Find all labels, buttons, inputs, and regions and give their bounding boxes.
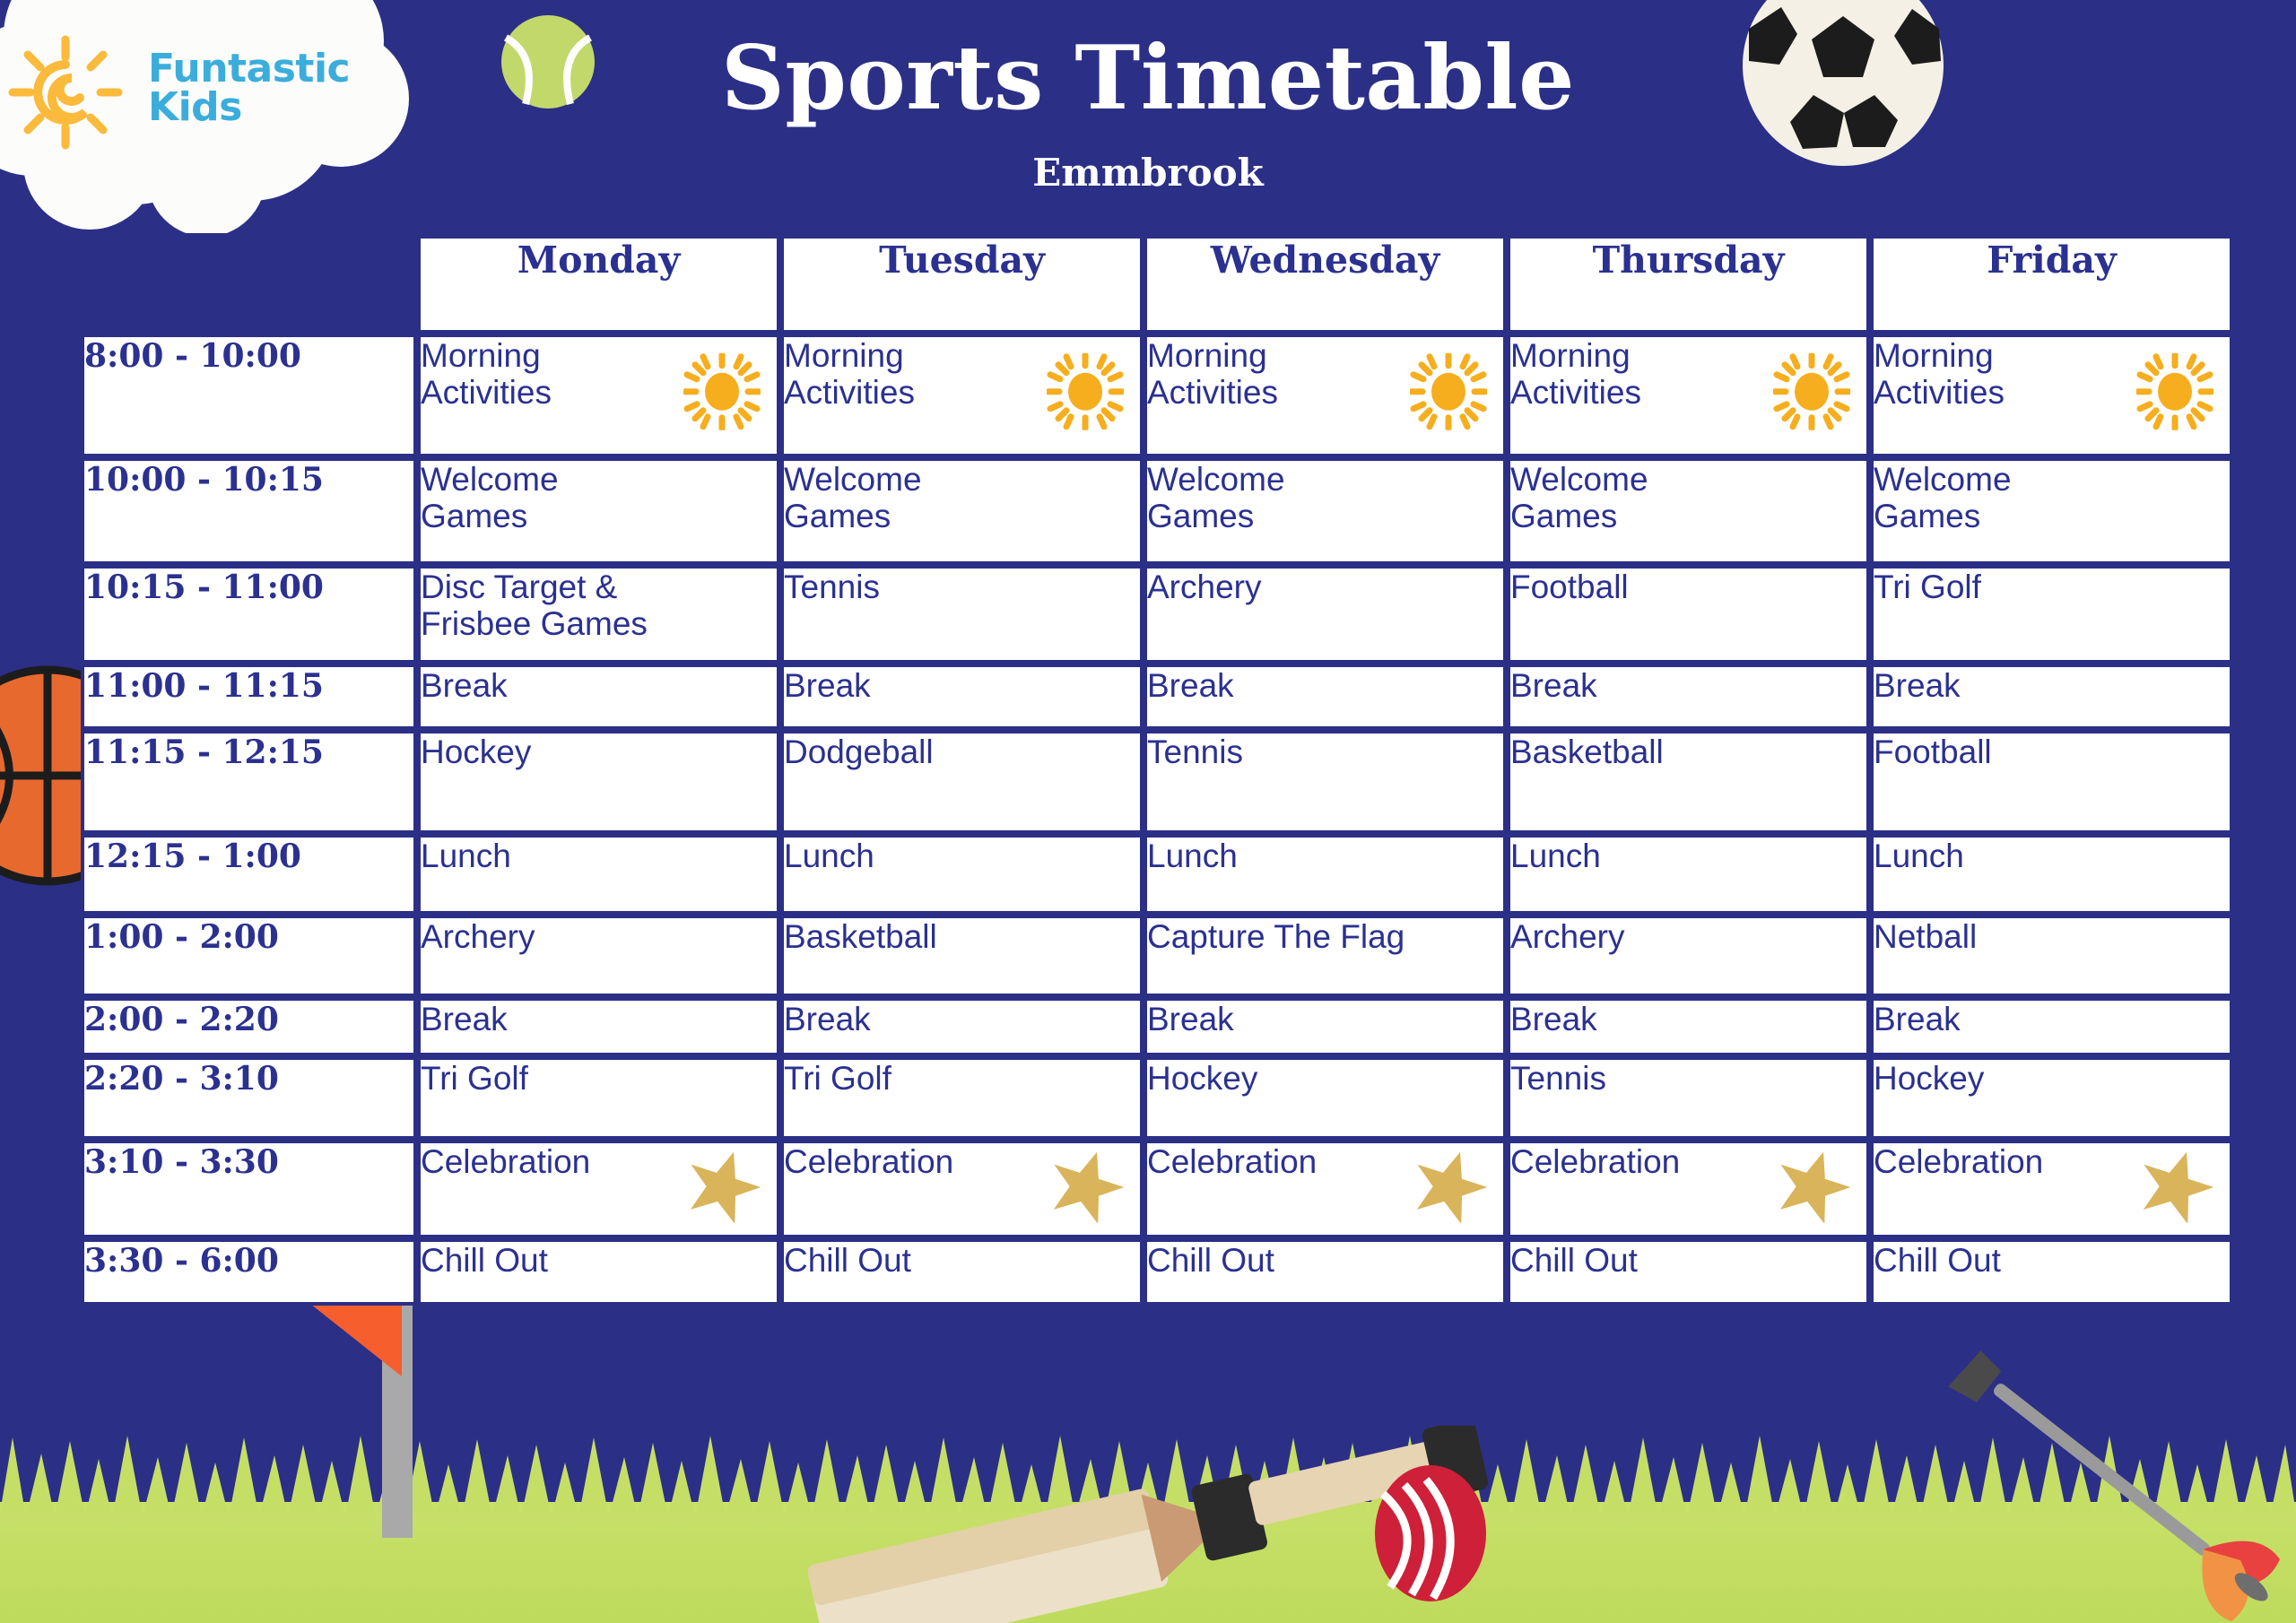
- activity-label: Chill Out: [421, 1242, 649, 1279]
- activity-cell: Chill Out: [780, 1238, 1144, 1306]
- activity-label: Morning Activities: [1147, 337, 1376, 412]
- star-icon: [1412, 1148, 1487, 1223]
- activity-cell: Morning Activities: [1144, 334, 1507, 457]
- activity-cell: Hockey: [1144, 1056, 1507, 1140]
- activity-cell: Break: [1507, 664, 1870, 730]
- sun-icon: [683, 353, 761, 430]
- sun-icon: [1773, 353, 1850, 430]
- activity-label: Archery: [421, 918, 649, 955]
- activity-label: Morning Activities: [784, 337, 1013, 412]
- activity-cell: Archery: [417, 915, 780, 997]
- activity-label: Tennis: [1510, 1060, 1739, 1097]
- activity-label: Tri Golf: [421, 1060, 649, 1097]
- activity-cell: Chill Out: [1870, 1238, 2233, 1306]
- sun-icon: [1047, 353, 1124, 430]
- activity-cell: Capture The Flag: [1144, 915, 1507, 997]
- activity-label: Hockey: [1874, 1060, 2102, 1097]
- activity-label: Tennis: [784, 568, 1013, 605]
- activity-label: Dodgeball: [784, 733, 1013, 770]
- cricket-bat-icon: [789, 1426, 1489, 1623]
- time-slot-label: 2:20 - 3:10: [81, 1056, 417, 1140]
- page-header: Sports Timetable Emmbrook: [0, 0, 2296, 224]
- activity-label: Morning Activities: [421, 337, 649, 412]
- activity-cell: Hockey: [1870, 1056, 2233, 1140]
- star-icon: [1775, 1148, 1850, 1223]
- activity-cell: Break: [1507, 997, 1870, 1056]
- activity-label: Lunch: [1874, 838, 2102, 874]
- star-icon: [2138, 1148, 2213, 1223]
- activity-cell: Break: [417, 664, 780, 730]
- activity-cell: Football: [1507, 565, 1870, 664]
- activity-cell: Lunch: [1507, 834, 1870, 915]
- timetable-row: 12:15 - 1:00LunchLunchLunchLunchLunch: [81, 834, 2233, 915]
- activity-cell: Welcome Games: [1144, 457, 1507, 565]
- activity-label: Break: [784, 1001, 1013, 1037]
- page-subtitle: Emmbrook: [0, 151, 2296, 195]
- activity-label: Break: [1510, 1001, 1739, 1037]
- activity-cell: Dodgeball: [780, 730, 1144, 834]
- activity-label: Tri Golf: [1874, 568, 2102, 605]
- activity-label: Break: [1147, 1001, 1376, 1037]
- grass-icon: [0, 1502, 2296, 1623]
- activity-cell: Lunch: [1144, 834, 1507, 915]
- activity-cell: Basketball: [780, 915, 1144, 997]
- page-title: Sports Timetable: [0, 27, 2296, 130]
- activity-label: Celebration: [1510, 1143, 1739, 1180]
- time-slot-label: 12:15 - 1:00: [81, 834, 417, 915]
- time-slot-label: 8:00 - 10:00: [81, 334, 417, 457]
- activity-label: Archery: [1147, 568, 1376, 605]
- timetable-body: 8:00 - 10:00Morning Activities Morning A…: [81, 334, 2233, 1306]
- activity-cell: Archery: [1507, 915, 1870, 997]
- timetable-row: 11:15 - 12:15HockeyDodgeballTennisBasket…: [81, 730, 2233, 834]
- activity-label: Welcome Games: [784, 461, 1013, 535]
- time-slot-label: 2:00 - 2:20: [81, 997, 417, 1056]
- time-slot-label: 3:30 - 6:00: [81, 1238, 417, 1306]
- activity-cell: Break: [780, 664, 1144, 730]
- sun-icon: [2136, 353, 2213, 430]
- timetable-row: 2:20 - 3:10Tri GolfTri GolfHockeyTennisH…: [81, 1056, 2233, 1140]
- activity-cell: Morning Activities: [780, 334, 1144, 457]
- activity-label: Welcome Games: [1147, 461, 1376, 535]
- sun-icon: [1410, 353, 1487, 438]
- time-slot-label: 11:00 - 11:15: [81, 664, 417, 730]
- activity-cell: Break: [1870, 997, 2233, 1056]
- time-slot-label: 10:15 - 11:00: [81, 565, 417, 664]
- star-icon: [1048, 1148, 1124, 1223]
- activity-cell: Morning Activities: [1870, 334, 2233, 457]
- star-icon: [685, 1148, 761, 1223]
- activity-label: Chill Out: [1874, 1242, 2102, 1279]
- timetable-row: 8:00 - 10:00Morning Activities Morning A…: [81, 334, 2233, 457]
- time-column-header: [81, 235, 417, 334]
- time-slot-label: 11:15 - 12:15: [81, 730, 417, 834]
- activity-label: Break: [1874, 667, 2102, 704]
- day-header-wednesday: Wednesday: [1144, 235, 1507, 334]
- star-icon: [685, 1148, 761, 1230]
- activity-label: Lunch: [784, 838, 1013, 874]
- activity-label: Lunch: [1147, 838, 1376, 874]
- day-header-tuesday: Tuesday: [780, 235, 1144, 334]
- sun-icon: [1773, 353, 1850, 438]
- activity-label: Celebration: [1874, 1143, 2102, 1180]
- activity-label: Morning Activities: [1510, 337, 1739, 412]
- star-icon: [2138, 1148, 2213, 1230]
- activity-cell: Tri Golf: [1870, 565, 2233, 664]
- timetable-row: 2:00 - 2:20BreakBreakBreakBreakBreak: [81, 997, 2233, 1056]
- activity-label: Archery: [1510, 918, 1739, 955]
- activity-cell: Lunch: [417, 834, 780, 915]
- arrow-icon: [1928, 1345, 2296, 1623]
- activity-label: Basketball: [784, 918, 1013, 955]
- timetable-row: 10:15 - 11:00Disc Target & Frisbee Games…: [81, 565, 2233, 664]
- cricket-ball-icon: [1363, 1462, 1498, 1605]
- activity-label: Chill Out: [1510, 1242, 1739, 1279]
- activity-label: Capture The Flag: [1147, 918, 1503, 955]
- activity-label: Lunch: [1510, 838, 1739, 874]
- activity-cell: Archery: [1144, 565, 1507, 664]
- activity-label: Break: [1510, 667, 1739, 704]
- activity-cell: Chill Out: [417, 1238, 780, 1306]
- activity-label: Tennis: [1147, 733, 1376, 770]
- activity-cell: Netball: [1870, 915, 2233, 997]
- timetable-row: 3:10 - 3:30Celebration Celebration Celeb…: [81, 1140, 2233, 1238]
- activity-label: Disc Target & Frisbee Games: [421, 568, 649, 643]
- activity-cell: Lunch: [1870, 834, 2233, 915]
- star-icon: [1048, 1148, 1124, 1230]
- activity-cell: Break: [1870, 664, 2233, 730]
- sun-icon: [1047, 353, 1124, 438]
- activity-cell: Celebration: [1507, 1140, 1870, 1238]
- activity-cell: Tri Golf: [780, 1056, 1144, 1140]
- activity-cell: Tennis: [1144, 730, 1507, 834]
- activity-label: Break: [421, 667, 649, 704]
- activity-label: Celebration: [784, 1143, 1013, 1180]
- time-slot-label: 1:00 - 2:00: [81, 915, 417, 997]
- activity-cell: Disc Target & Frisbee Games: [417, 565, 780, 664]
- activity-cell: Celebration: [1144, 1140, 1507, 1238]
- activity-label: Chill Out: [784, 1242, 1013, 1279]
- activity-label: Basketball: [1510, 733, 1739, 770]
- timetable-row: 11:00 - 11:15BreakBreakBreakBreakBreak: [81, 664, 2233, 730]
- activity-label: Chill Out: [1147, 1242, 1376, 1279]
- activity-label: Morning Activities: [1874, 337, 2102, 412]
- activity-cell: Welcome Games: [780, 457, 1144, 565]
- activity-cell: Football: [1870, 730, 2233, 834]
- activity-label: Celebration: [421, 1143, 649, 1180]
- activity-cell: Chill Out: [1507, 1238, 1870, 1306]
- activity-cell: Celebration: [780, 1140, 1144, 1238]
- activity-label: Hockey: [421, 733, 649, 770]
- timetable-row: 3:30 - 6:00Chill OutChill OutChill OutCh…: [81, 1238, 2233, 1306]
- activity-cell: Break: [1144, 664, 1507, 730]
- activity-label: Break: [1874, 1001, 2102, 1037]
- activity-cell: Celebration: [417, 1140, 780, 1238]
- sun-icon: [1410, 353, 1487, 430]
- activity-label: Tri Golf: [784, 1060, 1013, 1097]
- activity-cell: Tennis: [780, 565, 1144, 664]
- activity-label: Netball: [1874, 918, 2102, 955]
- star-icon: [1412, 1148, 1487, 1230]
- timetable-row: 10:00 - 10:15Welcome GamesWelcome GamesW…: [81, 457, 2233, 565]
- sun-icon: [683, 353, 761, 438]
- activity-cell: Break: [417, 997, 780, 1056]
- activity-cell: Welcome Games: [1870, 457, 2233, 565]
- activity-cell: Morning Activities: [1507, 334, 1870, 457]
- activity-label: Welcome Games: [421, 461, 649, 535]
- activity-label: Break: [1147, 667, 1376, 704]
- day-header-monday: Monday: [417, 235, 780, 334]
- day-header-thursday: Thursday: [1507, 235, 1870, 334]
- activity-cell: Tri Golf: [417, 1056, 780, 1140]
- activity-label: Hockey: [1147, 1060, 1376, 1097]
- activity-label: Welcome Games: [1510, 461, 1739, 535]
- activity-cell: Break: [780, 997, 1144, 1056]
- time-slot-label: 3:10 - 3:30: [81, 1140, 417, 1238]
- sun-icon: [2136, 353, 2213, 438]
- day-header-friday: Friday: [1870, 235, 2233, 334]
- activity-label: Football: [1510, 568, 1739, 605]
- activity-cell: Chill Out: [1144, 1238, 1507, 1306]
- activity-cell: Hockey: [417, 730, 780, 834]
- activity-label: Break: [421, 1001, 649, 1037]
- activity-label: Break: [784, 667, 1013, 704]
- activity-label: Lunch: [421, 838, 649, 874]
- timetable-header-row: Monday Tuesday Wednesday Thursday Friday: [81, 235, 2233, 334]
- activity-cell: Celebration: [1870, 1140, 2233, 1238]
- activity-cell: Welcome Games: [1507, 457, 1870, 565]
- activity-cell: Morning Activities: [417, 334, 780, 457]
- time-slot-label: 10:00 - 10:15: [81, 457, 417, 565]
- activity-label: Celebration: [1147, 1143, 1376, 1180]
- activity-label: Welcome Games: [1874, 461, 2102, 535]
- activity-cell: Welcome Games: [417, 457, 780, 565]
- timetable: Monday Tuesday Wednesday Thursday Friday…: [81, 235, 2233, 1306]
- star-icon: [1775, 1148, 1850, 1230]
- activity-cell: Tennis: [1507, 1056, 1870, 1140]
- activity-cell: Lunch: [780, 834, 1144, 915]
- grass-blades-icon: [0, 1432, 2296, 1513]
- timetable-row: 1:00 - 2:00ArcheryBasketballCapture The …: [81, 915, 2233, 997]
- activity-cell: Break: [1144, 997, 1507, 1056]
- activity-label: Football: [1874, 733, 2102, 770]
- activity-cell: Basketball: [1507, 730, 1870, 834]
